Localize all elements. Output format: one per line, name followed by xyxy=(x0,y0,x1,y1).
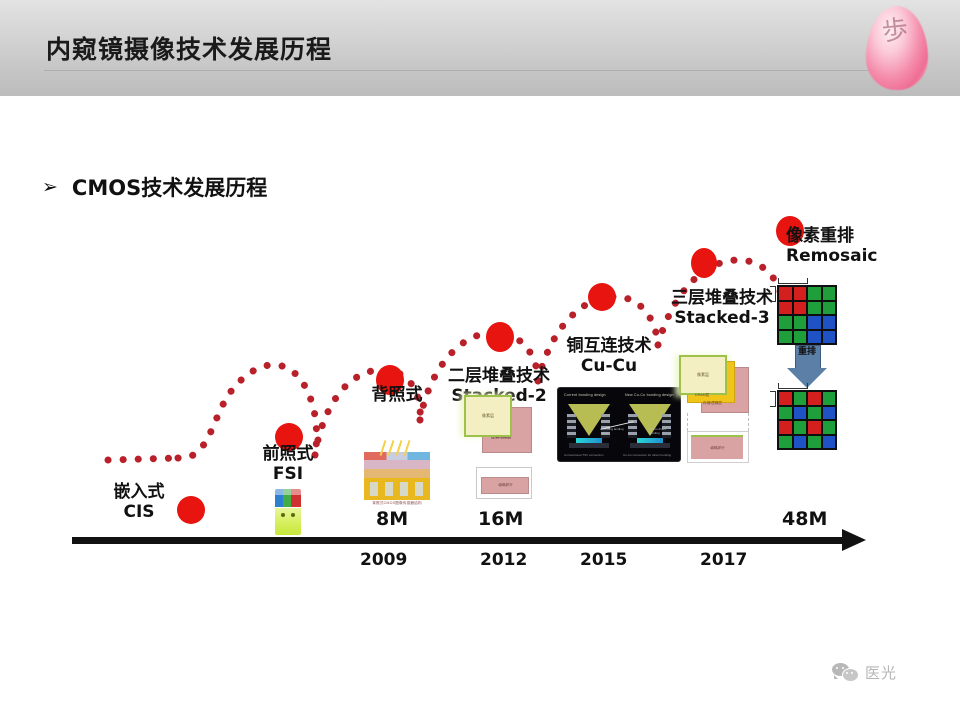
year-2009: 2009 xyxy=(360,550,407,570)
fsi-top-layer xyxy=(275,489,301,507)
fsi-bottom-layer xyxy=(275,508,301,535)
node-label-stacked3: 三层堆叠技术 Stacked-3 xyxy=(655,288,789,328)
slide: 内窥镜摄像技术发展历程 歩 ➢ CMOS技术发展历程 xyxy=(0,0,960,720)
cucu-left-panel: Current bonding design Conventional TSV … xyxy=(558,388,619,461)
node-cucu-en: Cu-Cu xyxy=(548,356,670,376)
cucu-metal-stack xyxy=(567,414,576,438)
stacked2-diagram: 逻辑电路层 像素层 电路部分 xyxy=(458,393,536,501)
stacked2-pixel-label: 像素层 xyxy=(466,397,510,435)
remosaic-arrow-label: 重排 xyxy=(787,347,827,358)
node-label-cis: 嵌入式 CIS xyxy=(104,482,174,522)
mp-label-48m: 48M xyxy=(782,508,827,530)
stacked2-pixel-layer: 像素层 xyxy=(464,395,512,437)
node-stacked3-cn: 三层堆叠技术 xyxy=(655,288,789,308)
grid-top-dimension-v xyxy=(770,286,776,302)
stacked2-circuit-box: 电路部分 xyxy=(476,467,532,499)
node-label-bsi: 背照式 xyxy=(370,385,424,405)
node-bsi-cn: 背照式 xyxy=(370,385,424,405)
node-label-remosaic: 像素重排 Remosaic xyxy=(786,226,906,266)
section-heading: ➢ CMOS技术发展历程 xyxy=(42,172,267,202)
node-remosaic-cn: 像素重排 xyxy=(786,226,906,246)
stacked2-circuit-label: 电路部分 xyxy=(482,478,528,493)
axis-arrowhead-icon xyxy=(842,529,866,551)
cucu-right-footnote: Cu-Cu connection for direct bonding xyxy=(623,453,671,457)
stacked3-dram-label: DRAM层 xyxy=(695,393,709,397)
grid-top-dimension xyxy=(778,278,808,284)
cucu-right-title: New Cu-Cu bonding design xyxy=(625,393,674,397)
stacked3-pixel-layer: 像素层 xyxy=(679,355,727,395)
timeline-axis xyxy=(72,533,872,547)
node-cis-cn: 嵌入式 xyxy=(104,482,174,502)
header-divider xyxy=(44,70,894,71)
year-2012: 2012 xyxy=(480,550,527,570)
cucu-right-note: Cu-Cu direct bonding xyxy=(649,428,673,435)
logo-calligraphy: 歩 xyxy=(863,13,932,85)
node-fsi-cn: 前照式 xyxy=(250,444,326,464)
bayer-grid xyxy=(777,390,837,450)
cucu-right-panel: New Cu-Cu bonding design Cu-Cu direct bo… xyxy=(619,388,680,461)
stacked3-connector xyxy=(687,413,749,431)
fsi-sensor-icon xyxy=(273,489,303,535)
cucu-substrate xyxy=(630,443,670,448)
watermark-label: 医光 xyxy=(865,662,897,683)
cucu-substrate xyxy=(569,443,609,448)
year-2015: 2015 xyxy=(580,550,627,570)
stacked3-logic-label: 存储/逻辑层 xyxy=(703,401,722,405)
cucu-left-title: Current bonding design xyxy=(564,393,606,397)
cucu-center-note: Bonding landing layer xyxy=(602,428,624,435)
node-cis-en: CIS xyxy=(104,502,174,522)
wechat-watermark: 医光 xyxy=(832,662,897,683)
bsi-cross-section-icon: 背照式CMOS图像传感器结构 xyxy=(364,452,430,504)
bsi-layer-3 xyxy=(364,469,430,478)
brand-logo: 歩 xyxy=(866,6,928,90)
mp-label-16m: 16M xyxy=(478,508,523,530)
bsi-caption: 背照式CMOS图像传感器结构 xyxy=(362,501,432,505)
bsi-layer-2 xyxy=(364,460,430,469)
year-2017: 2017 xyxy=(700,550,747,570)
bullet-arrow-icon: ➢ xyxy=(42,178,58,197)
mp-label-8m: 8M xyxy=(376,508,408,530)
stacked3-circuit-box: 电路部分 xyxy=(687,431,749,463)
quad-bayer-grid xyxy=(777,285,837,345)
stacked3-pixel-label: 像素层 xyxy=(681,357,725,393)
cucu-left-footnote: Conventional TSV connection xyxy=(564,453,603,457)
bsi-layer-4 xyxy=(364,478,430,500)
wechat-bubble-small xyxy=(842,668,859,682)
wechat-icon xyxy=(832,663,858,682)
node-remosaic-en: Remosaic xyxy=(786,246,906,266)
cucu-illustration: Current bonding design Conventional TSV … xyxy=(557,387,681,462)
cucu-metal-stack xyxy=(628,414,637,438)
axis-line xyxy=(72,537,848,544)
node-label-cucu: 铜互连技术 Cu-Cu xyxy=(548,336,670,376)
stacked3-circuit-label: 电路部分 xyxy=(691,437,743,459)
node-stacked2-cn: 二层堆叠技术 xyxy=(432,366,566,386)
grid-bottom-dimension-v xyxy=(770,391,776,407)
node-cucu-cn: 铜互连技术 xyxy=(548,336,670,356)
page-title: 内窥镜摄像技术发展历程 xyxy=(46,30,332,66)
node-fsi-en: FSI xyxy=(250,464,326,484)
node-label-fsi: 前照式 FSI xyxy=(250,444,326,484)
node-stacked3-en: Stacked-3 xyxy=(655,308,789,328)
grid-bottom-dimension xyxy=(778,383,808,389)
section-heading-label: CMOS技术发展历程 xyxy=(72,172,267,202)
stacked3-diagram: 像素层 DRAM层 存储/逻辑层 电路部分 xyxy=(673,355,755,465)
slide-header: 内窥镜摄像技术发展历程 歩 xyxy=(0,0,960,96)
